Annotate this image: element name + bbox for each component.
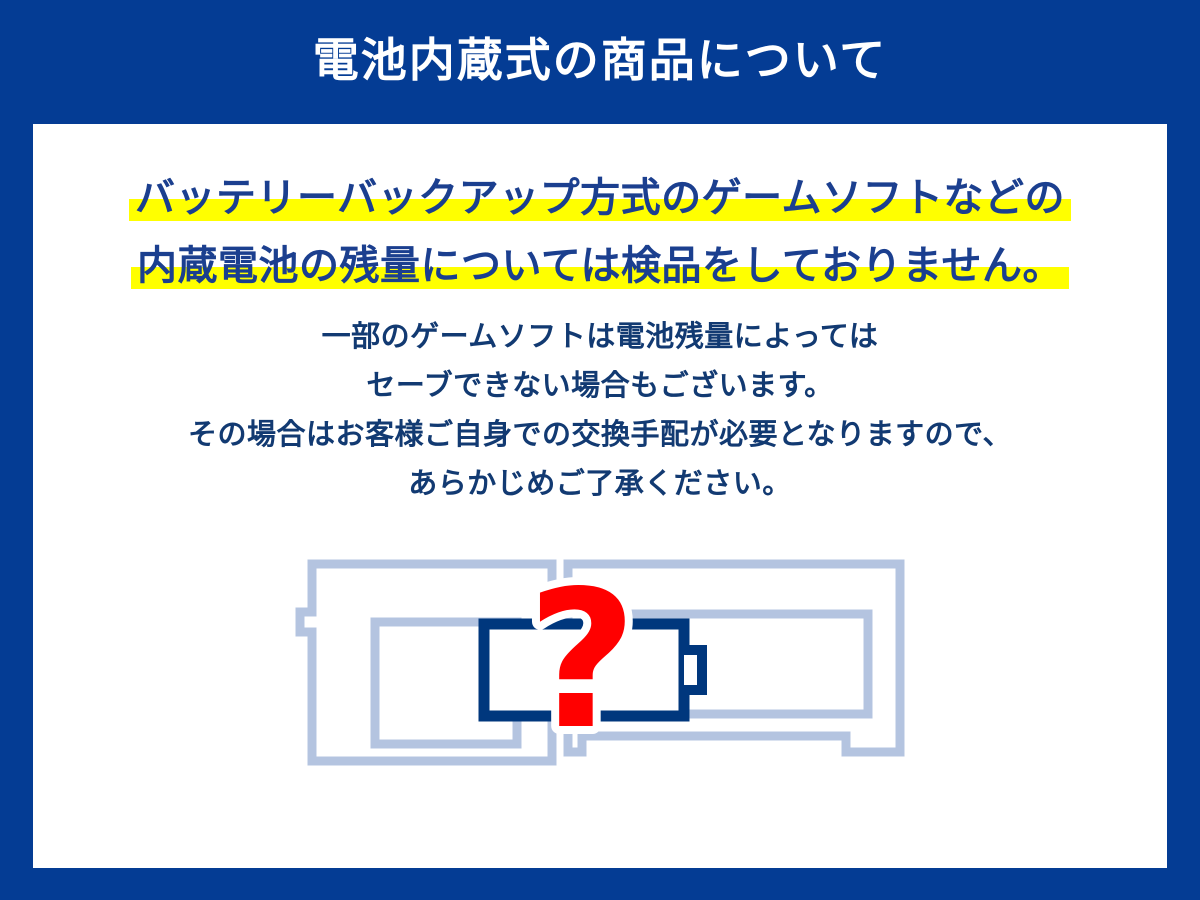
- headline-line-2-text: 内蔵電池の残量については検品をしておりません。: [137, 243, 1063, 289]
- header-band: 電池内蔵式の商品について: [0, 0, 1200, 124]
- body-block: 一部のゲームソフトは電池残量によっては セーブできない場合もございます。 その場…: [33, 312, 1167, 508]
- question-mark-icon: ?: [527, 554, 637, 771]
- headline-line-1-text: バッテリーバックアップ方式のゲームソフトなどの: [135, 175, 1065, 221]
- headline-line-2: 内蔵電池の残量については検品をしておりません。: [131, 232, 1069, 300]
- page-title: 電池内蔵式の商品について: [313, 37, 888, 83]
- body-line-1: 一部のゲームソフトは電池残量によっては: [33, 312, 1167, 361]
- body-line-4: あらかじめご了承ください。: [33, 459, 1167, 508]
- body-line-2: セーブできない場合もございます。: [33, 361, 1167, 410]
- headline-line-1: バッテリーバックアップ方式のゲームソフトなどの: [129, 164, 1071, 232]
- headline-block: バッテリーバックアップ方式のゲームソフトなどの 内蔵電池の残量については検品をし…: [33, 164, 1167, 300]
- illustration-block: ? ?: [33, 554, 1167, 814]
- headline-row-2: 内蔵電池の残量については検品をしておりません。: [33, 232, 1167, 300]
- slide-root: 電池内蔵式の商品について バッテリーバックアップ方式のゲームソフトなどの 内蔵電…: [0, 0, 1200, 900]
- battery-cartridge-illustration: ? ?: [290, 554, 910, 784]
- body-line-3: その場合はお客様ご自身での交換手配が必要となりますので、: [33, 410, 1167, 459]
- battery-terminal: [684, 650, 702, 690]
- content-panel: バッテリーバックアップ方式のゲームソフトなどの 内蔵電池の残量については検品をし…: [33, 124, 1167, 868]
- headline-row-1: バッテリーバックアップ方式のゲームソフトなどの: [33, 164, 1167, 232]
